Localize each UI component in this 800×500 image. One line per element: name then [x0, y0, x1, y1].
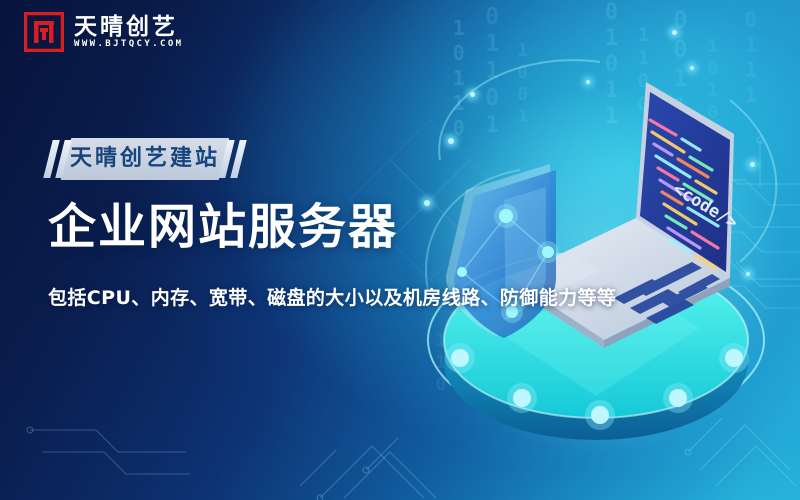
tqcy-square-logo-icon	[24, 12, 64, 52]
logo-website-url: WWW.BJTQCY.COM	[74, 40, 183, 49]
page-description: 包括CPU、内存、宽带、磁盘的大小以及机房线路、防御能力等等	[48, 286, 768, 311]
badge-label: 天晴创艺建站	[66, 148, 224, 170]
site-logo[interactable]: 天晴创艺 WWW.BJTQCY.COM	[24, 12, 183, 52]
page-title: 企业网站服务器	[48, 202, 768, 254]
banner-root: 10110 01101 1001 01011 1100 00110 1010 0…	[0, 0, 800, 500]
logo-brand-name: 天晴创艺	[74, 16, 183, 39]
banner-copy: 天晴创艺建站 企业网站服务器 包括CPU、内存、宽带、磁盘的大小以及机房线路、防…	[48, 138, 768, 330]
subtitle-badge: 天晴创艺建站	[48, 138, 242, 180]
